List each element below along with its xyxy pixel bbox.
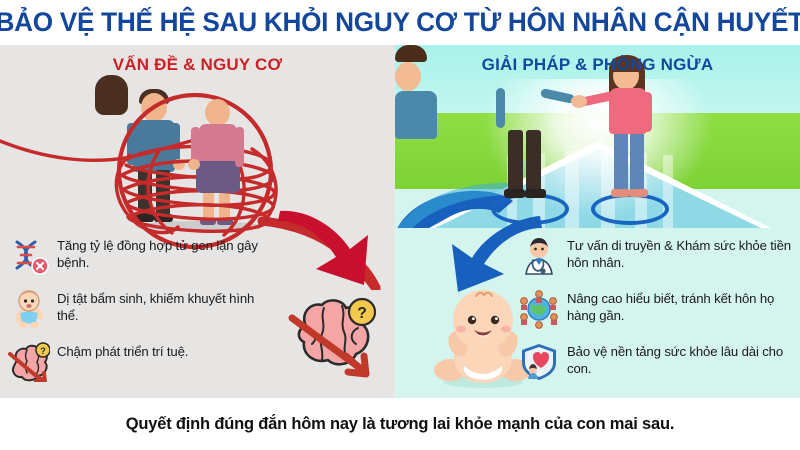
man2-left-arm <box>496 88 505 128</box>
list-item-text: Tăng tỷ lệ đồng hợp tử gen lặn gây bệnh. <box>57 236 276 271</box>
brain-decline-icon: ? <box>288 292 380 378</box>
list-item: Tăng tỷ lệ đồng hợp tử gen lặn gây bệnh. <box>8 236 276 276</box>
solution-bullet-list: Tư vấn di truyền & Khám sức khỏe tiền hô… <box>518 236 796 395</box>
woman2-shoe-left <box>611 189 630 197</box>
svg-text:?: ? <box>40 346 46 356</box>
dna-blocked-icon <box>8 236 50 276</box>
joined-hands <box>571 95 587 108</box>
problem-bullet-list: Tăng tỷ lệ đồng hợp tử gen lặn gây bệnh. <box>8 236 276 395</box>
globe-community-icon <box>518 289 560 329</box>
infographic-poster: BẢO VỆ THẾ HỆ SAU KHỎI NGUY CƠ TỪ HÔN NH… <box>0 0 800 450</box>
list-item-text: Dị tật bẩm sinh, khiếm khuyết hình thể. <box>57 289 276 324</box>
man2-leg-right <box>526 130 541 192</box>
list-item: Nâng cao hiểu biết, tránh kết hôn họ hàn… <box>518 289 796 329</box>
list-item-text: Tư vấn di truyền & Khám sức khỏe tiền hô… <box>567 236 796 271</box>
list-item-text: Nâng cao hiểu biết, tránh kết hôn họ hàn… <box>567 289 796 324</box>
baby-defect-icon <box>8 289 50 329</box>
title-bar: BẢO VỆ THẾ HỆ SAU KHỎI NGUY CƠ TỪ HÔN NH… <box>0 0 800 45</box>
list-item: Tư vấn di truyền & Khám sức khỏe tiền hô… <box>518 236 796 276</box>
brain-question-icon: ? <box>8 342 50 382</box>
woman2-torso <box>609 88 647 134</box>
list-item: ? Chậm phát triển trí tuệ. <box>8 342 276 382</box>
woman-torso <box>199 124 237 164</box>
list-item: Dị tật bẩm sinh, khiếm khuyết hình thể. <box>8 289 276 329</box>
woman2-leg-left <box>614 132 628 192</box>
doctor-stethoscope-icon <box>518 236 560 276</box>
woman2-leg-right <box>630 132 644 192</box>
woman2-right-arm <box>643 92 652 132</box>
red-down-arrow-icon <box>272 205 382 295</box>
page-title: BẢO VỆ THẾ HỆ SAU KHỎI NGUY CƠ TỪ HÔN NH… <box>0 7 800 38</box>
list-item: Bảo vệ nền tảng sức khỏe lâu dài cho con… <box>518 342 796 382</box>
woman-right-arm <box>235 127 244 167</box>
woman-head <box>205 99 230 126</box>
shield-heart-child-icon <box>518 342 560 382</box>
footer-bar: Quyết định đúng đắn hôm nay là tương lai… <box>0 398 800 450</box>
man2-leg-left <box>508 130 523 192</box>
woman-left-hand <box>188 159 200 170</box>
man2-shoe-right <box>525 189 546 198</box>
list-item-text: Chậm phát triển trí tuệ. <box>57 342 188 361</box>
man2-shoe-left <box>504 189 525 198</box>
problem-panel-heading: VẤN ĐỀ & NGUY CƠ <box>0 55 395 75</box>
svg-text:?: ? <box>357 305 367 322</box>
solution-panel-heading: GIẢI PHÁP & PHÒNG NGỪA <box>395 55 800 75</box>
footer-message: Quyết định đúng đắn hôm nay là tương lai… <box>126 415 674 434</box>
spotlight-ring-right <box>591 193 669 225</box>
man2-torso <box>395 91 437 139</box>
woman2-shoe-right <box>629 189 648 197</box>
list-item-text: Bảo vệ nền tảng sức khỏe lâu dài cho con… <box>567 342 796 377</box>
woman-skirt <box>196 161 240 193</box>
